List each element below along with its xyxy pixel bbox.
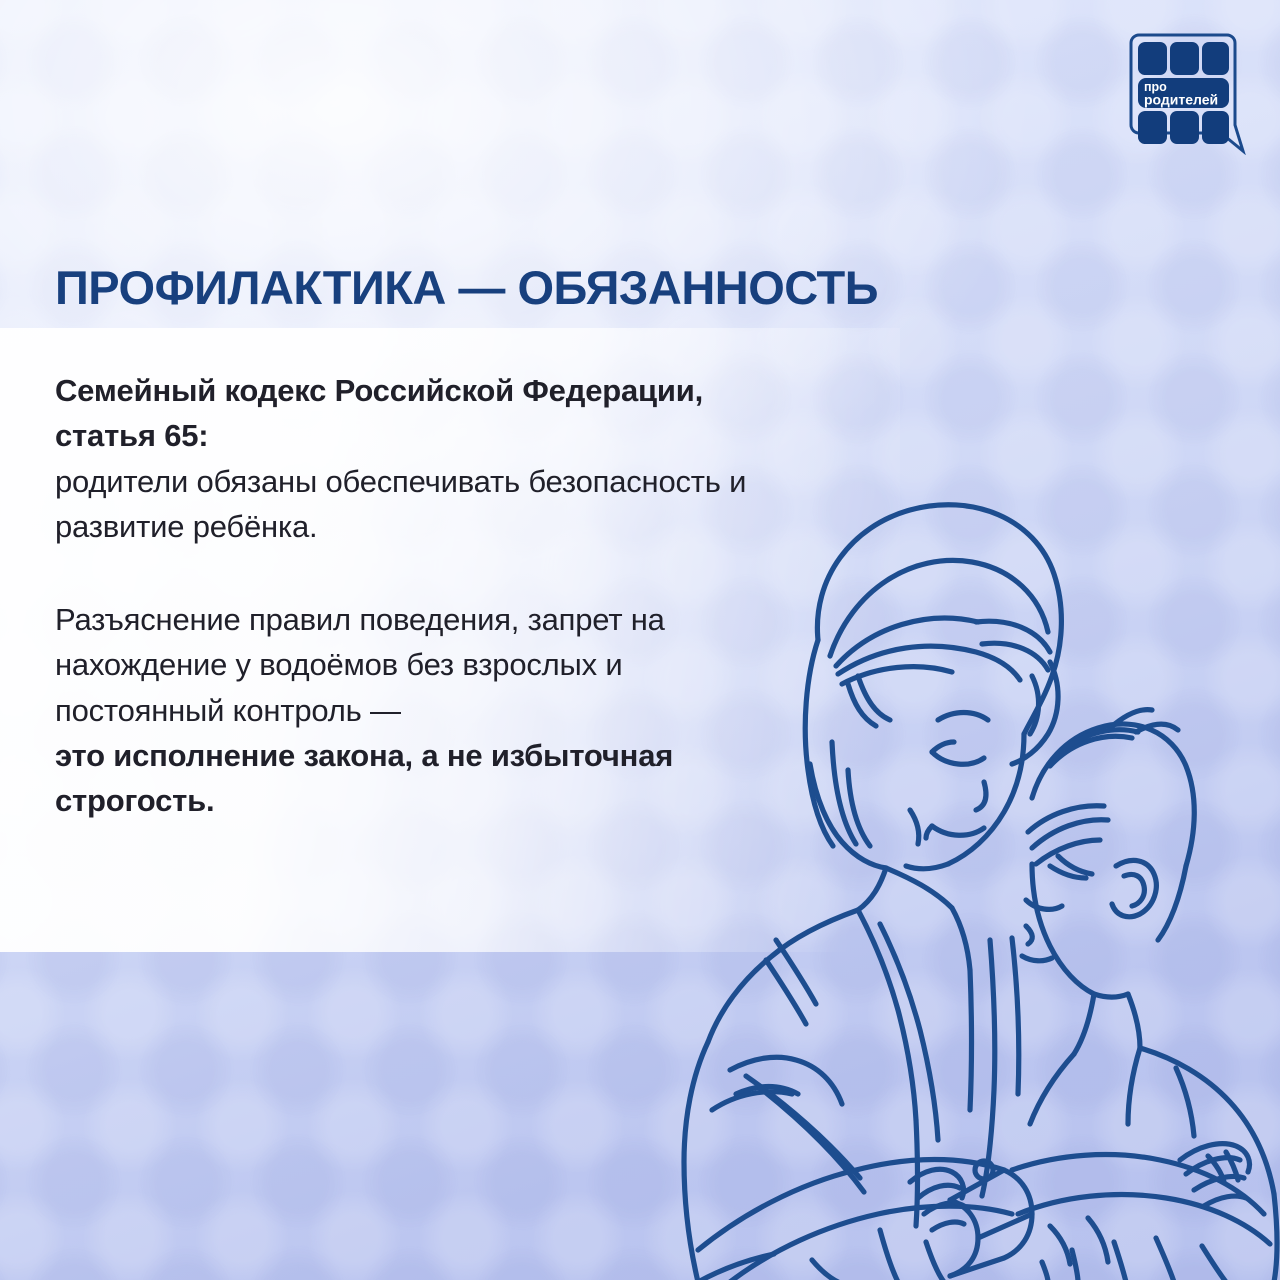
poster-canvas: про родителей ПРОФИЛАКТИКА — ОБЯЗАННОСТЬ… (0, 0, 1280, 1280)
logo-speech-bubble-icon: про родителей (1129, 33, 1247, 155)
content-panel-inner: Семейный кодекс Российской Федерации, ст… (55, 368, 755, 823)
paragraph2-bold-text: это исполнение закона, а не избыточная с… (55, 738, 673, 818)
paragraph-law-reference: Семейный кодекс Российской Федерации, ст… (55, 368, 755, 549)
logo-text-line2: родителей (1144, 92, 1218, 108)
paragraph-explanation: Разъяснение правил поведения, запрет на … (55, 597, 755, 823)
paragraph1-regular-text: родители обязаны обеспечивать безопаснос… (55, 464, 746, 544)
title-band: ПРОФИЛАКТИКА — ОБЯЗАННОСТЬ (0, 246, 1280, 328)
paragraph1-bold-text: Семейный кодекс Российской Федерации, ст… (55, 373, 703, 453)
page-title: ПРОФИЛАКТИКА — ОБЯЗАННОСТЬ (55, 264, 878, 311)
brand-logo[interactable]: про родителей (1129, 33, 1247, 155)
paragraph2-regular-text: Разъяснение правил поведения, запрет на … (55, 602, 665, 728)
content-panel: Семейный кодекс Российской Федерации, ст… (0, 328, 900, 952)
